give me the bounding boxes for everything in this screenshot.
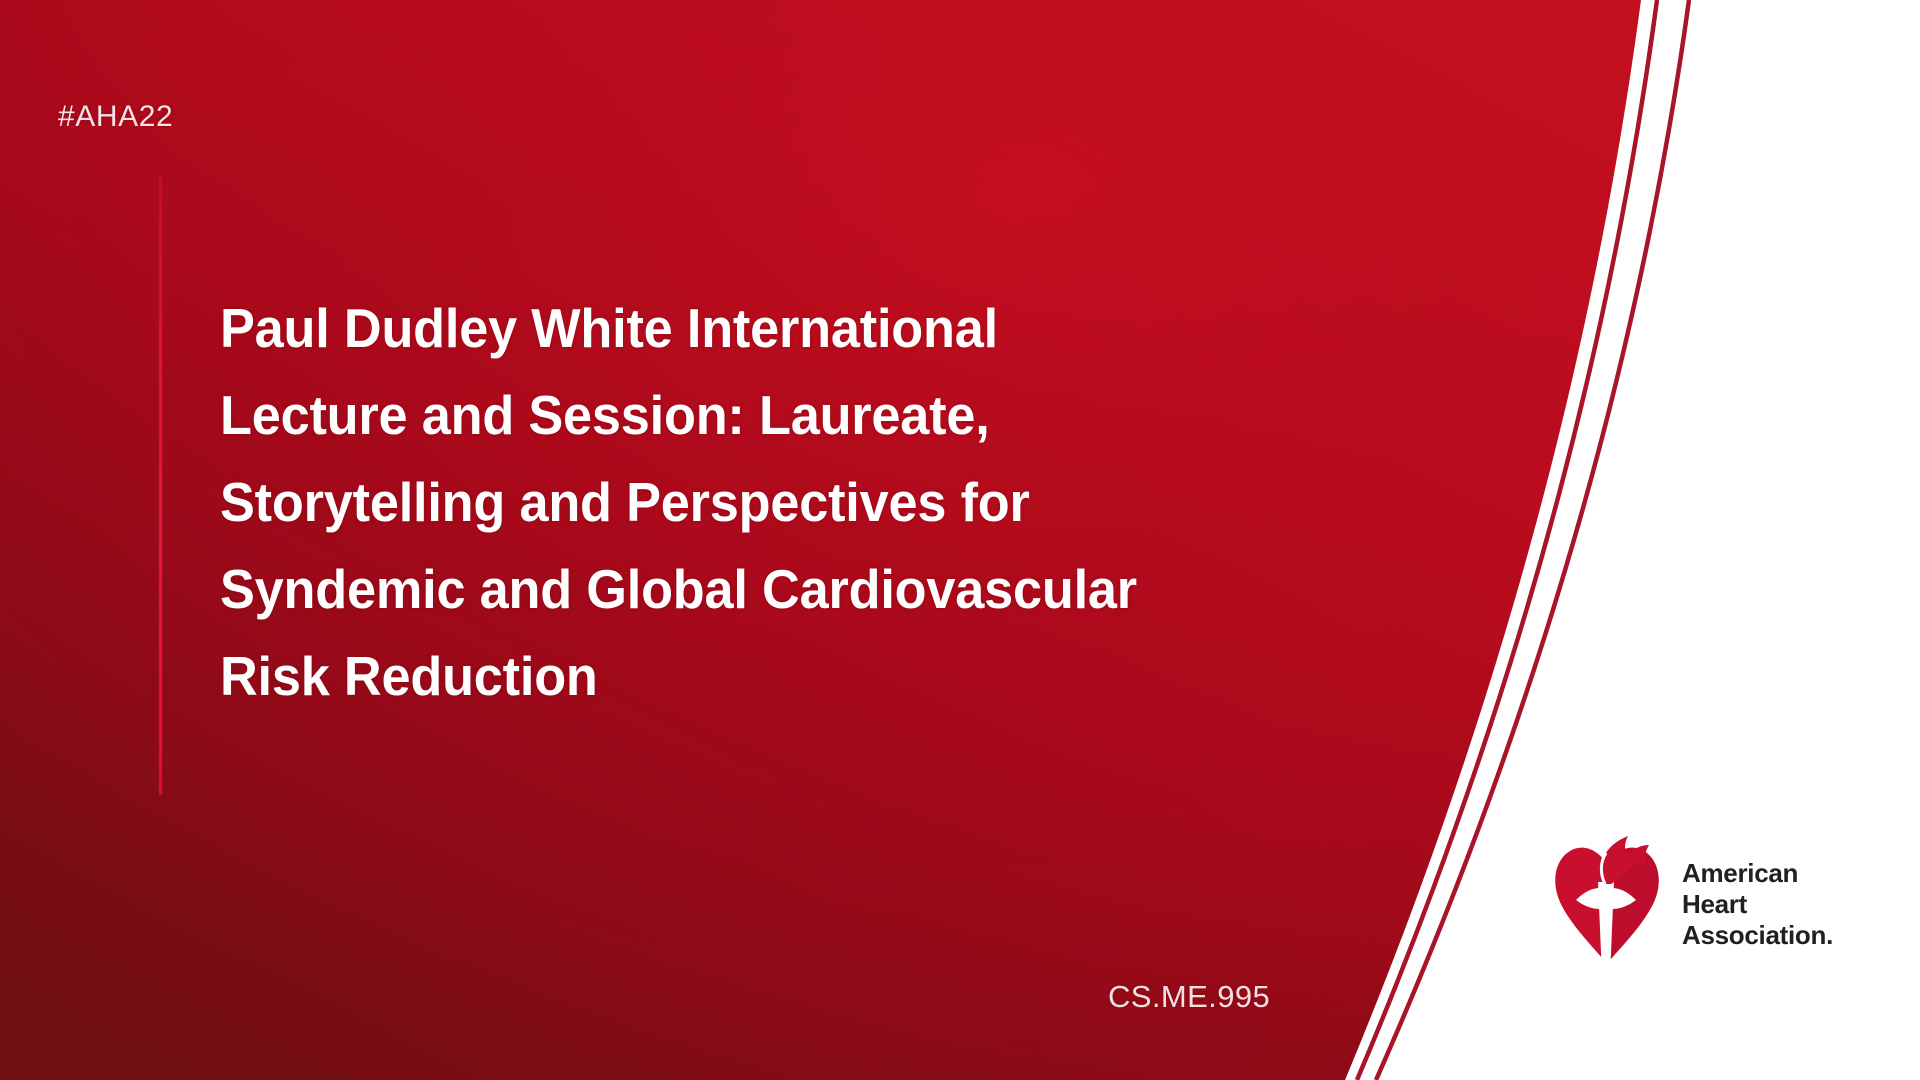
session-code-label: CS.ME.995 — [1108, 979, 1270, 1015]
vertical-accent-line — [159, 175, 162, 795]
aha-heart-torch-icon — [1548, 826, 1664, 976]
title-line-2: Lecture and Session: Laureate, — [220, 372, 1180, 459]
hashtag-label: #AHA22 — [58, 100, 173, 134]
wordmark-line-association: Association. — [1682, 920, 1833, 951]
aha-wordmark: American Heart Association. — [1682, 852, 1833, 951]
aha-logo: American Heart Association. — [1548, 826, 1833, 976]
title-slide: #AHA22 Paul Dudley White International L… — [0, 0, 1920, 1080]
page-title: Paul Dudley White International Lecture … — [220, 285, 1230, 720]
wordmark-line-heart: Heart — [1682, 889, 1833, 920]
wordmark-line-american: American — [1682, 858, 1833, 889]
title-line-5: Risk Reduction — [220, 633, 1180, 720]
title-line-3: Storytelling and Perspectives for — [220, 459, 1180, 546]
title-line-1: Paul Dudley White International — [220, 285, 1180, 372]
title-line-4: Syndemic and Global Cardiovascular — [220, 546, 1180, 633]
